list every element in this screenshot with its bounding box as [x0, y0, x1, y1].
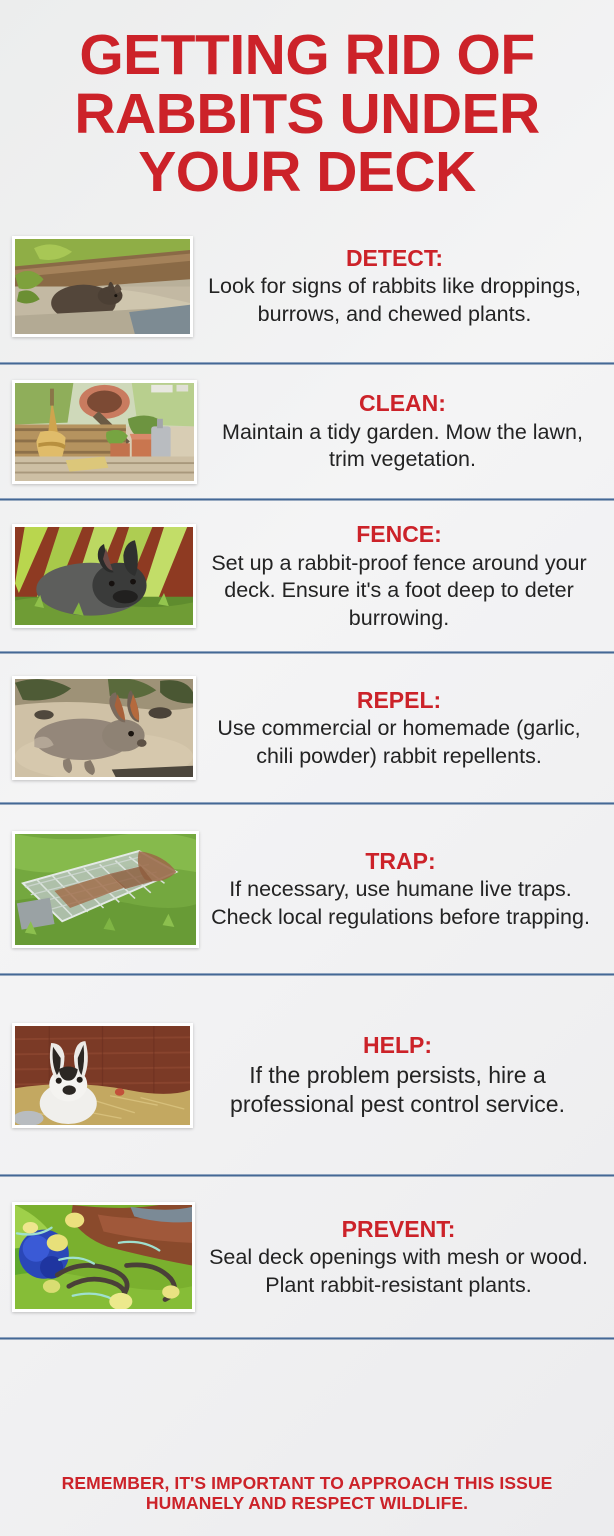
photo-rabbit-by-fence — [12, 524, 196, 628]
step-text-trap: TRAP: If necessary, use humane live trap… — [199, 847, 602, 932]
step-body-detect: Look for signs of rabbits like droppings… — [201, 273, 588, 328]
photo-rabbit-in-hutch — [12, 1023, 193, 1128]
footer: REMEMBER, IT'S IMPORTANT TO APPROACH THI… — [0, 1463, 614, 1536]
step-title-trap: TRAP: — [207, 847, 594, 876]
step-body-prevent: Seal deck openings with mesh or wood. Pl… — [203, 1244, 594, 1299]
step-text-detect: DETECT: Look for signs of rabbits like d… — [193, 244, 602, 329]
step-repel: REPEL: Use commercial or homemade (garli… — [0, 654, 614, 802]
step-title-prevent: PREVENT: — [203, 1215, 594, 1244]
photo-live-trap — [12, 831, 199, 948]
step-body-repel: Use commercial or homemade (garlic, chil… — [204, 715, 594, 770]
step-text-repel: REPEL: Use commercial or homemade (garli… — [196, 686, 602, 771]
step-title-repel: REPEL: — [204, 686, 594, 715]
step-title-help: HELP: — [201, 1031, 594, 1060]
step-help: HELP: If the problem persists, hire a pr… — [0, 976, 614, 1174]
step-text-prevent: PREVENT: Seal deck openings with mesh or… — [195, 1215, 602, 1300]
step-title-detect: DETECT: — [201, 244, 588, 273]
step-title-fence: FENCE: — [204, 520, 594, 549]
step-body-clean: Maintain a tidy garden. Mow the lawn, tr… — [211, 419, 594, 474]
step-trap: TRAP: If necessary, use humane live trap… — [0, 805, 614, 973]
infographic-poster: GETTING RID OF RABBITS UNDER YOUR DECK D… — [0, 0, 614, 1536]
step-body-trap: If necessary, use humane live traps. Che… — [207, 876, 594, 931]
steps-list: DETECT: Look for signs of rabbits like d… — [0, 210, 614, 1463]
photo-wild-rabbit-gravel — [12, 676, 196, 780]
photo-mesh-netting — [12, 1202, 195, 1312]
photo-garden-tools — [12, 380, 197, 484]
step-body-fence: Set up a rabbit-proof fence around your … — [204, 550, 594, 633]
title-block: GETTING RID OF RABBITS UNDER YOUR DECK — [0, 0, 614, 210]
step-detect: DETECT: Look for signs of rabbits like d… — [0, 210, 614, 362]
page-title: GETTING RID OF RABBITS UNDER YOUR DECK — [26, 26, 588, 202]
step-title-clean: CLEAN: — [211, 389, 594, 418]
photo-rabbit-under-deck — [12, 236, 193, 337]
divider — [0, 1337, 614, 1340]
step-clean: CLEAN: Maintain a tidy garden. Mow the l… — [0, 365, 614, 498]
step-prevent: PREVENT: Seal deck openings with mesh or… — [0, 1177, 614, 1337]
step-text-fence: FENCE: Set up a rabbit-proof fence aroun… — [196, 520, 602, 632]
step-fence: FENCE: Set up a rabbit-proof fence aroun… — [0, 501, 614, 651]
step-text-clean: CLEAN: Maintain a tidy garden. Mow the l… — [197, 389, 602, 474]
step-text-help: HELP: If the problem persists, hire a pr… — [193, 1031, 602, 1120]
step-body-help: If the problem persists, hire a professi… — [201, 1061, 594, 1120]
footer-note: REMEMBER, IT'S IMPORTANT TO APPROACH THI… — [20, 1473, 594, 1514]
